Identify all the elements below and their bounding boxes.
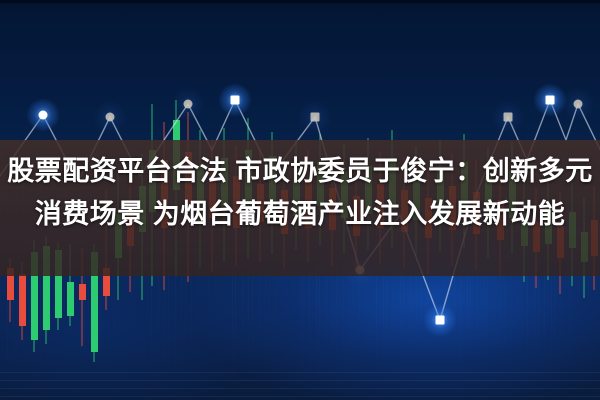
marker-dot [504,113,513,122]
marker-dot [231,96,240,105]
marker-dot [436,316,445,325]
marker-dot [574,100,583,109]
headline-line-1: 股票配资平台合法 市政协委员于俊宁：创新多元 [0,150,600,193]
headline-line-2: 消费场景 为烟台葡萄酒产业注入发展新动能 [0,193,600,236]
marker-dot [106,113,115,122]
banner-image: 股票配资平台合法 市政协委员于俊宁：创新多元 消费场景 为烟台葡萄酒产业注入发展… [0,0,600,400]
marker-dot [546,96,555,105]
marker-dot [184,100,193,109]
marker-dot [39,111,48,120]
page-title: 股票配资平台合法 市政协委员于俊宁：创新多元 消费场景 为烟台葡萄酒产业注入发展… [0,150,600,236]
marker-dot [311,113,320,122]
